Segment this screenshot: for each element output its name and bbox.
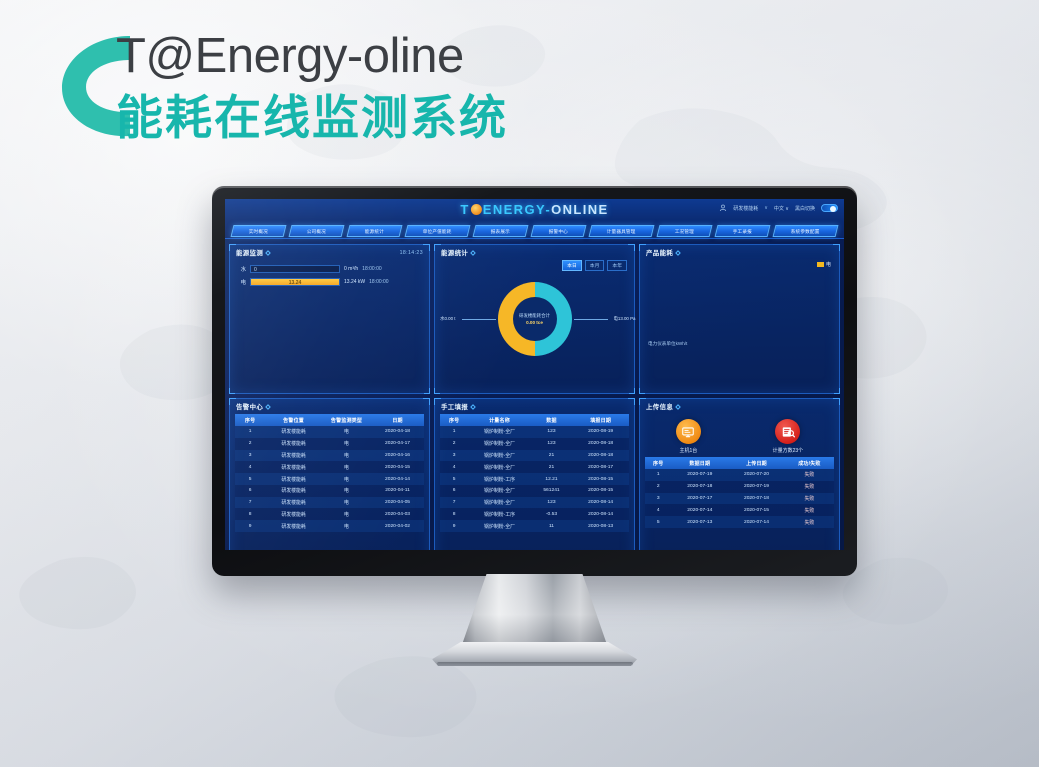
panel-title: 能源统计 bbox=[441, 248, 468, 257]
cell-index: 9 bbox=[235, 520, 265, 532]
main-nav: 实时概况 公司概况 能源统计 单位产值能耗 报表展示 报警中心 计量器具管理 工… bbox=[225, 225, 844, 237]
diamond-icon bbox=[470, 250, 476, 256]
cell-index: 6 bbox=[235, 485, 265, 497]
table-row[interactable]: 1研发楼能耗电2020-04-18 bbox=[235, 426, 424, 438]
stat-meters[interactable]: 计量方数23个 bbox=[773, 419, 804, 454]
table-row[interactable]: 3研发楼能耗电2020-04-16 bbox=[235, 450, 424, 462]
energy-row-value: 0 bbox=[254, 266, 257, 274]
cell-index: 4 bbox=[645, 504, 671, 516]
cell-meter-name: 锅炉制粉-全厂 bbox=[468, 497, 530, 509]
table-row[interactable]: 7研发楼能耗电2020-04-05 bbox=[235, 497, 424, 509]
cell-data-date: 2020-07-14 bbox=[671, 504, 728, 516]
at-flame-icon bbox=[471, 204, 482, 215]
cell-index: 1 bbox=[440, 426, 468, 438]
cell-date: 2020-04-14 bbox=[371, 473, 424, 485]
col-date: 日期 bbox=[371, 414, 424, 426]
cell-date: 2020-04-15 bbox=[371, 461, 424, 473]
callout-label-water: 水0.00 t bbox=[440, 316, 455, 322]
energy-row-meta-time: 18:00:00 bbox=[362, 266, 381, 272]
donut-center-line1: 研发楼能耗合计 bbox=[519, 313, 550, 319]
cell-meter-name: 锅炉制粉-全厂 bbox=[468, 520, 530, 532]
cell-index: 4 bbox=[440, 461, 468, 473]
period-tabs: 本日 本月 本年 bbox=[562, 260, 627, 271]
alarm-table-body: 1研发楼能耗电2020-04-18 2研发楼能耗电2020-04-17 3研发楼… bbox=[235, 426, 424, 532]
cell-meter-name: 锅炉制粉-全厂 bbox=[468, 438, 530, 450]
panel-title: 能源监测 bbox=[236, 248, 263, 257]
panel-title: 手工填报 bbox=[441, 402, 468, 411]
cell-index: 3 bbox=[235, 450, 265, 462]
cell-value: 123 bbox=[531, 497, 573, 509]
cell-type: 电 bbox=[322, 461, 371, 473]
table-row[interactable]: 5研发楼能耗电2020-04-14 bbox=[235, 473, 424, 485]
cell-date: 2020-08-17 bbox=[572, 461, 629, 473]
table-row[interactable]: 5锅炉制粉-工序12.212020-08-15 bbox=[440, 473, 629, 485]
cell-index: 6 bbox=[440, 485, 468, 497]
table-row[interactable]: 52020-07-132020-07-14失败 bbox=[645, 516, 834, 528]
nav-item-1[interactable]: 公司概况 bbox=[289, 225, 345, 237]
cell-value: 123 bbox=[531, 438, 573, 450]
panel-upload-info: 上传信息 主机1台 bbox=[639, 398, 840, 550]
tab-year[interactable]: 本年 bbox=[607, 260, 627, 271]
cell-date: 2020-08-14 bbox=[572, 508, 629, 520]
energy-row-bar: 13.24 bbox=[250, 278, 340, 286]
table-row[interactable]: 8锅炉制粉-工序-0.532020-08-14 bbox=[440, 508, 629, 520]
cell-meter-name: 锅炉制粉-全厂 bbox=[468, 426, 530, 438]
cell-index: 8 bbox=[440, 508, 468, 520]
panel-manual-entry: 手工填报 序号 计量名称 数据 填报日期 bbox=[434, 398, 635, 550]
panel-product-energy: 产品能耗 电 电力仪表单位kWh/t bbox=[639, 244, 840, 394]
energy-row-meta-value: 13.24 kW bbox=[344, 279, 365, 285]
table-row[interactable]: 8研发楼能耗电2020-04-03 bbox=[235, 508, 424, 520]
monitor-bezel: TENERGY-ONLINE 研发楼能耗 ∨ 中文 ∨ 黑白切换 实时概况 公司… bbox=[212, 186, 857, 576]
cell-type: 电 bbox=[322, 497, 371, 509]
stat-host-caption: 主机1台 bbox=[676, 447, 701, 454]
col-type: 告警监测类型 bbox=[322, 414, 371, 426]
table-header-row: 序号 计量名称 数据 填报日期 bbox=[440, 414, 629, 426]
nav-label: 报表展示 bbox=[491, 226, 510, 237]
cell-index: 8 bbox=[235, 508, 265, 520]
status-badge: 失败 bbox=[785, 469, 834, 481]
nav-item-4[interactable]: 报表展示 bbox=[473, 225, 529, 237]
table-row[interactable]: 4锅炉制粉-全厂212020-08-17 bbox=[440, 461, 629, 473]
panel-title: 告警中心 bbox=[236, 402, 263, 411]
table-row[interactable]: 2锅炉制粉-全厂1232020-08-18 bbox=[440, 438, 629, 450]
table-row[interactable]: 2研发楼能耗电2020-04-17 bbox=[235, 438, 424, 450]
cell-index: 3 bbox=[645, 493, 671, 505]
cell-date: 2020-04-03 bbox=[371, 508, 424, 520]
col-data-date: 数据日期 bbox=[671, 457, 728, 469]
table-row[interactable]: 4研发楼能耗电2020-04-15 bbox=[235, 461, 424, 473]
cell-date: 2020-04-11 bbox=[371, 485, 424, 497]
theme-toggle[interactable] bbox=[821, 204, 838, 212]
cell-value: 21 bbox=[531, 450, 573, 462]
username-label[interactable]: 研发楼能耗 bbox=[733, 205, 758, 212]
col-index: 序号 bbox=[235, 414, 265, 426]
upload-info-table-body: 12020-07-192020-07-20失败 22020-07-182020-… bbox=[645, 469, 834, 528]
cell-date: 2020-04-16 bbox=[371, 450, 424, 462]
cell-index: 9 bbox=[440, 520, 468, 532]
energy-row: 电 13.24 13.24 kW18:00:00 bbox=[237, 275, 422, 288]
cell-location: 研发楼能耗 bbox=[265, 473, 322, 485]
nav-label: 实时概况 bbox=[249, 226, 268, 237]
col-meter-name: 计量名称 bbox=[468, 414, 530, 426]
cell-location: 研发楼能耗 bbox=[265, 485, 322, 497]
panel-title-bar: 告警中心 bbox=[230, 399, 429, 413]
cell-date: 2020-08-15 bbox=[572, 473, 629, 485]
cell-meter-name: 锅炉制粉-工序 bbox=[468, 508, 530, 520]
cell-index: 7 bbox=[235, 497, 265, 509]
cell-location: 研发楼能耗 bbox=[265, 497, 322, 509]
page-header: T@Energy-oline 能耗在线监测系统 bbox=[52, 22, 672, 152]
table-row[interactable]: 22020-07-182020-07-19失败 bbox=[645, 481, 834, 493]
cell-date: 2020-08-15 bbox=[572, 485, 629, 497]
diamond-icon bbox=[675, 250, 681, 256]
manual-table-scroll[interactable]: 序号 计量名称 数据 填报日期 1锅炉制粉-全厂1232020-08-19 2锅… bbox=[435, 413, 634, 550]
alarm-table: 序号 告警位置 告警监测类型 日期 1研发楼能耗电2020-04-18 2研发楼… bbox=[235, 414, 424, 532]
table-row[interactable]: 7锅炉制粉-全厂1232020-08-14 bbox=[440, 497, 629, 509]
nav-label: 单位产值能耗 bbox=[423, 226, 452, 237]
stat-meters-caption: 计量方数23个 bbox=[773, 447, 804, 454]
nav-label: 公司概况 bbox=[307, 226, 326, 237]
panel-title-bar: 上传信息 bbox=[640, 399, 839, 413]
table-row[interactable]: 12020-07-192020-07-20失败 bbox=[645, 469, 834, 481]
cell-type: 电 bbox=[322, 485, 371, 497]
cell-meter-name: 锅炉制粉-全厂 bbox=[468, 485, 530, 497]
cell-value: 12.21 bbox=[531, 473, 573, 485]
page-title-cn: 能耗在线监测系统 bbox=[116, 90, 508, 146]
status-badge: 失败 bbox=[785, 493, 834, 505]
energy-row-meta-time: 18:00:00 bbox=[369, 279, 388, 285]
table-row[interactable]: 9锅炉制粉-全厂112020-08-13 bbox=[440, 520, 629, 532]
callout-line-right bbox=[574, 319, 608, 320]
cell-type: 电 bbox=[322, 450, 371, 462]
panel-title-bar: 手工填报 bbox=[435, 399, 634, 413]
cell-location: 研发楼能耗 bbox=[265, 520, 322, 532]
status-badge: 失败 bbox=[785, 504, 834, 516]
panel-title: 产品能耗 bbox=[646, 248, 673, 257]
cell-value: 21 bbox=[531, 461, 573, 473]
donut-chart: 研发楼能耗合计 0.00 tce 水0.00 t 电13.00 Pa bbox=[498, 282, 572, 356]
cell-type: 电 bbox=[322, 426, 371, 438]
upload-table-scroll[interactable]: 序号 数据日期 上传日期 成功/失败 12020-07-192020-07-20… bbox=[640, 456, 839, 544]
header-text-group: T@Energy-oline 能耗在线监测系统 bbox=[116, 22, 508, 146]
table-header-row: 序号 数据日期 上传日期 成功/失败 bbox=[645, 457, 834, 469]
dashboard-body: 能源监测 18:14:23 水 0 0 m³/h18: bbox=[225, 241, 844, 550]
stat-host[interactable]: 主机1台 bbox=[676, 419, 701, 454]
cell-date: 2020-04-18 bbox=[371, 426, 424, 438]
cell-upload-date: 2020-07-15 bbox=[728, 504, 785, 516]
energy-row-label: 水 bbox=[237, 265, 246, 273]
panel-alarm-center: 告警中心 序号 告警位置 告警监测类型 日期 bbox=[229, 398, 430, 550]
cell-date: 2020-08-18 bbox=[572, 438, 629, 450]
nav-item-0[interactable]: 实时概况 bbox=[231, 225, 287, 237]
nav-item-5[interactable]: 报警中心 bbox=[531, 225, 587, 237]
manual-entry-table: 序号 计量名称 数据 填报日期 1锅炉制粉-全厂1232020-08-19 2锅… bbox=[440, 414, 629, 532]
cell-data-date: 2020-07-17 bbox=[671, 493, 728, 505]
monitor-mockup: TENERGY-ONLINE 研发楼能耗 ∨ 中文 ∨ 黑白切换 实时概况 公司… bbox=[212, 186, 857, 576]
nav-item-2[interactable]: 能源统计 bbox=[347, 225, 403, 237]
app-brand: TENERGY-ONLINE bbox=[460, 202, 608, 217]
callout-label-electric: 电13.00 Pa bbox=[614, 316, 636, 322]
table-row[interactable]: 6研发楼能耗电2020-04-11 bbox=[235, 485, 424, 497]
cell-upload-date: 2020-07-14 bbox=[728, 516, 785, 528]
col-status: 成功/失败 bbox=[785, 457, 834, 469]
donut-center-line2: 0.00 tce bbox=[526, 320, 543, 325]
host-monitor-icon bbox=[676, 419, 701, 444]
energy-row-meta-value: 0 m³/h bbox=[344, 266, 358, 272]
col-report-date: 填报日期 bbox=[572, 414, 629, 426]
energy-row-bar: 0 bbox=[250, 265, 340, 273]
cell-index: 5 bbox=[235, 473, 265, 485]
table-row[interactable]: 1锅炉制粉-全厂1232020-08-19 bbox=[440, 426, 629, 438]
cell-date: 2020-08-13 bbox=[572, 520, 629, 532]
cell-index: 1 bbox=[235, 426, 265, 438]
clock-label: 18:14:23 bbox=[400, 250, 423, 256]
table-row[interactable]: 9研发楼能耗电2020-04-02 bbox=[235, 520, 424, 532]
nav-item-3[interactable]: 单位产值能耗 bbox=[405, 225, 471, 237]
table-header-row: 序号 告警位置 告警监测类型 日期 bbox=[235, 414, 424, 426]
cell-index: 2 bbox=[235, 438, 265, 450]
nav-item-6[interactable]: 计量器具管理 bbox=[589, 225, 655, 237]
energy-row-meta: 0 m³/h18:00:00 bbox=[344, 266, 422, 272]
status-badge: 失败 bbox=[785, 516, 834, 528]
table-row[interactable]: 32020-07-172020-07-18失败 bbox=[645, 493, 834, 505]
cell-index: 3 bbox=[440, 450, 468, 462]
panel-title-bar: 能源统计 bbox=[435, 245, 634, 259]
axis-unit-label: 电力仪表单位kWh/t bbox=[648, 341, 687, 347]
nav-label: 手工录报 bbox=[733, 226, 752, 237]
cell-location: 研发楼能耗 bbox=[265, 438, 322, 450]
cell-index: 5 bbox=[645, 516, 671, 528]
cell-type: 电 bbox=[322, 438, 371, 450]
energy-row-meta: 13.24 kW18:00:00 bbox=[344, 279, 422, 285]
page-title-en: T@Energy-oline bbox=[116, 22, 508, 90]
user-controls: 研发楼能耗 ∨ 中文 ∨ 黑白切换 bbox=[719, 204, 838, 212]
cell-index: 7 bbox=[440, 497, 468, 509]
brand-prefix: T bbox=[460, 202, 469, 217]
cell-index: 5 bbox=[440, 473, 468, 485]
col-location: 告警位置 bbox=[265, 414, 322, 426]
cell-data-date: 2020-07-18 bbox=[671, 481, 728, 493]
dashboard-row-top: 能源监测 18:14:23 水 0 0 m³/h18: bbox=[229, 244, 840, 394]
cell-value: 123 bbox=[531, 426, 573, 438]
status-badge: 失败 bbox=[785, 481, 834, 493]
dashboard-row-bottom: 告警中心 序号 告警位置 告警监测类型 日期 bbox=[229, 398, 840, 550]
cell-date: 2020-08-18 bbox=[572, 450, 629, 462]
panel-title-bar: 产品能耗 bbox=[640, 245, 839, 259]
cell-value: 561241 bbox=[531, 485, 573, 497]
col-upload-date: 上传日期 bbox=[728, 457, 785, 469]
cell-data-date: 2020-07-13 bbox=[671, 516, 728, 528]
cell-type: 电 bbox=[322, 520, 371, 532]
legend-label-electric: 电 bbox=[826, 261, 831, 268]
energy-row-value: 13.24 bbox=[289, 279, 302, 287]
col-index: 序号 bbox=[440, 414, 468, 426]
manual-entry-table-body: 1锅炉制粉-全厂1232020-08-19 2锅炉制粉-全厂1232020-08… bbox=[440, 426, 629, 532]
cell-date: 2020-08-19 bbox=[572, 426, 629, 438]
upload-info-table: 序号 数据日期 上传日期 成功/失败 12020-07-192020-07-20… bbox=[645, 457, 834, 528]
nav-label: 系统参数配置 bbox=[791, 226, 820, 237]
tab-today[interactable]: 本日 bbox=[562, 260, 582, 271]
table-row[interactable]: 3锅炉制粉-全厂212020-08-18 bbox=[440, 450, 629, 462]
diamond-icon bbox=[265, 250, 271, 256]
cell-data-date: 2020-07-19 bbox=[671, 469, 728, 481]
energy-row: 水 0 0 m³/h18:00:00 bbox=[237, 262, 422, 275]
col-index: 序号 bbox=[645, 457, 671, 469]
monitor-base-edge bbox=[437, 662, 633, 666]
diamond-icon bbox=[675, 404, 681, 410]
cell-location: 研发楼能耗 bbox=[265, 461, 322, 473]
cell-index: 4 bbox=[235, 461, 265, 473]
cell-meter-name: 锅炉制粉-全厂 bbox=[468, 450, 530, 462]
cell-location: 研发楼能耗 bbox=[265, 450, 322, 462]
nav-item-8[interactable]: 手工录报 bbox=[715, 225, 771, 237]
energy-row-label: 电 bbox=[237, 278, 246, 286]
nav-label: 工况管理 bbox=[675, 226, 694, 237]
legend-swatch-electric bbox=[817, 262, 824, 267]
cell-upload-date: 2020-07-20 bbox=[728, 469, 785, 481]
diamond-icon bbox=[470, 404, 476, 410]
alarm-table-scroll[interactable]: 序号 告警位置 告警监测类型 日期 1研发楼能耗电2020-04-18 2研发楼… bbox=[230, 413, 429, 550]
nav-label: 计量器具管理 bbox=[607, 226, 636, 237]
cell-date: 2020-04-02 bbox=[371, 520, 424, 532]
cell-type: 电 bbox=[322, 508, 371, 520]
table-row[interactable]: 6锅炉制粉-全厂5612412020-08-15 bbox=[440, 485, 629, 497]
brand-mid: ENERGY bbox=[483, 202, 546, 217]
cell-meter-name: 锅炉制粉-全厂 bbox=[468, 461, 530, 473]
donut-chart-wrap: 研发楼能耗合计 0.00 tce 水0.00 t 电13.00 Pa bbox=[435, 259, 634, 379]
cell-index: 1 bbox=[645, 469, 671, 481]
cell-index: 2 bbox=[440, 438, 468, 450]
monitor-neck-shading bbox=[460, 574, 610, 652]
diamond-icon bbox=[265, 404, 271, 410]
cell-value: -0.53 bbox=[531, 508, 573, 520]
cell-index: 2 bbox=[645, 481, 671, 493]
cell-upload-date: 2020-07-19 bbox=[728, 481, 785, 493]
cell-date: 2020-04-17 bbox=[371, 438, 424, 450]
chart-legend: 电 bbox=[817, 261, 831, 268]
table-row[interactable]: 42020-07-142020-07-15失败 bbox=[645, 504, 834, 516]
tab-month[interactable]: 本月 bbox=[585, 260, 605, 271]
brand-suffix: ONLINE bbox=[551, 202, 609, 217]
chevron-down-icon[interactable]: ∨ bbox=[764, 205, 768, 211]
col-value: 数据 bbox=[531, 414, 573, 426]
nav-label: 报警中心 bbox=[549, 226, 568, 237]
panel-title: 上传信息 bbox=[646, 402, 673, 411]
nav-label: 能源统计 bbox=[365, 226, 384, 237]
cell-location: 研发楼能耗 bbox=[265, 426, 322, 438]
panel-energy-stats: 能源统计 本日 本月 本年 研发楼能耗合计 bbox=[434, 244, 635, 394]
monitor-screen: TENERGY-ONLINE 研发楼能耗 ∨ 中文 ∨ 黑白切换 实时概况 公司… bbox=[225, 199, 844, 550]
donut-center-label: 研发楼能耗合计 0.00 tce bbox=[513, 297, 557, 341]
cell-meter-name: 锅炉制粉-工序 bbox=[468, 473, 530, 485]
user-icon bbox=[719, 204, 727, 212]
cell-date: 2020-04-05 bbox=[371, 497, 424, 509]
nav-item-7[interactable]: 工况管理 bbox=[657, 225, 713, 237]
theme-toggle-label: 黑白切换 bbox=[795, 205, 815, 212]
cell-upload-date: 2020-07-18 bbox=[728, 493, 785, 505]
callout-line-left bbox=[462, 319, 496, 320]
language-selector[interactable]: 中文 ∨ bbox=[774, 205, 789, 212]
panel-energy-monitor: 能源监测 18:14:23 水 0 0 m³/h18: bbox=[229, 244, 430, 394]
cell-value: 11 bbox=[531, 520, 573, 532]
cell-type: 电 bbox=[322, 473, 371, 485]
toggle-knob bbox=[830, 206, 836, 212]
panel-title-bar: 能源监测 18:14:23 bbox=[230, 245, 429, 259]
nav-item-9[interactable]: 系统参数配置 bbox=[773, 225, 839, 237]
report-search-icon bbox=[775, 419, 800, 444]
upload-stat-icons: 主机1台 计量方数23个 bbox=[640, 413, 839, 456]
cell-date: 2020-08-14 bbox=[572, 497, 629, 509]
cell-location: 研发楼能耗 bbox=[265, 508, 322, 520]
energy-rows: 水 0 0 m³/h18:00:00 电 bbox=[230, 259, 429, 288]
